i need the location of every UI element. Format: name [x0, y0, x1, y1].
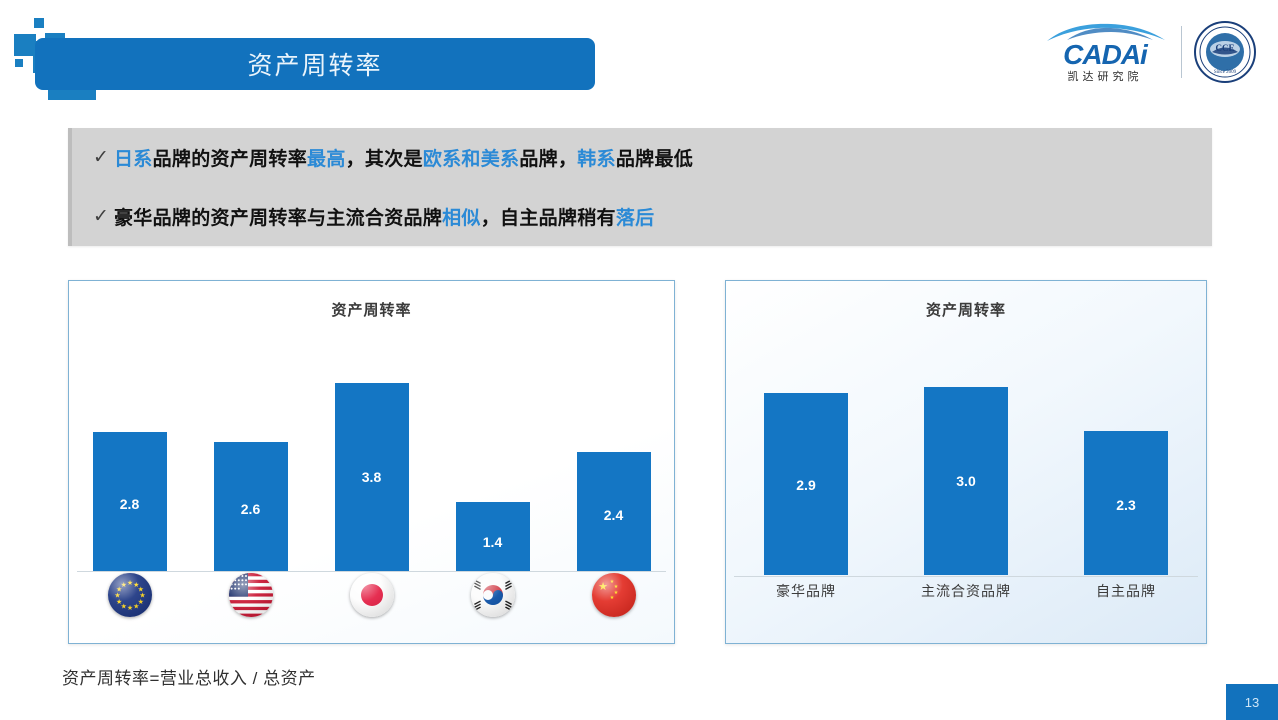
svg-text:CCE: CCE: [1215, 43, 1234, 53]
bullet-text-2: 豪华品牌的资产周转率与主流合资品牌相似，自主品牌稍有落后: [114, 203, 654, 230]
bullet-segment: 韩系: [577, 149, 616, 170]
bar-韩系[interactable]: 1.4: [456, 502, 530, 571]
bullet-segment: 落后: [616, 208, 655, 229]
bar-value-label: 2.6: [214, 501, 288, 517]
bar-自主品牌[interactable]: 2.3: [1084, 431, 1168, 575]
chart-left-bars: 2.82.63.81.42.4: [69, 343, 674, 571]
bullet-segment: ，其次是: [346, 149, 423, 170]
cn-flag-icon: ★ ★ ★ ★ ★: [592, 573, 636, 617]
bar-value-label: 2.3: [1084, 497, 1168, 513]
bar-slot: 3.0: [886, 343, 1046, 575]
svg-text:★: ★: [137, 585, 143, 593]
svg-text:★: ★: [613, 590, 618, 596]
cadai-chinese-name: 凯达研究院: [1068, 72, 1143, 83]
chart-right-title: 资产周转率: [726, 281, 1206, 320]
category-中系: ★ ★ ★ ★ ★: [553, 573, 674, 617]
slide-canvas: 资产周转率 CADAi 凯达研究院 CCE Since 2009 ✓ 日系品: [0, 0, 1278, 720]
bullet-segment: 相似: [442, 208, 481, 229]
bar-中系[interactable]: 2.4: [577, 452, 651, 571]
category-日系: [311, 573, 432, 617]
bullet-segment: 最高: [307, 149, 346, 170]
bullet-text-1: 日系品牌的资产周转率最高，其次是欧系和美系品牌，韩系品牌最低: [114, 144, 693, 171]
slide-title-bar: 资产周转率: [35, 38, 595, 90]
formula-footnote: 资产周转率=营业总收入 / 总资产: [62, 664, 316, 689]
chart-left-title: 资产周转率: [69, 281, 674, 320]
logo-divider: [1181, 26, 1182, 78]
svg-text:★: ★: [609, 579, 614, 585]
category-label: 主流合资品牌: [921, 581, 1011, 601]
bar-美系[interactable]: 2.6: [214, 442, 288, 571]
bar-slot: 2.4: [553, 343, 674, 571]
svg-text:★: ★: [609, 595, 614, 601]
bullet-segment: ，自主品牌稍有: [481, 208, 616, 229]
svg-text:★: ★: [598, 581, 608, 593]
svg-text:★: ★: [126, 604, 132, 612]
cadai-seal-icon: CCE Since 2009: [1194, 21, 1256, 83]
bullet-segment: 品牌最低: [616, 149, 693, 170]
bar-value-label: 3.8: [335, 469, 409, 485]
chart-left-axis: [77, 571, 666, 572]
bar-value-label: 2.4: [577, 507, 651, 523]
category-主流合资品牌: 主流合资品牌: [886, 581, 1046, 601]
bar-value-label: 2.8: [93, 496, 167, 512]
category-韩系: [432, 573, 553, 617]
decor-square-tiny: [15, 59, 23, 67]
key-findings-panel: ✓ 日系品牌的资产周转率最高，其次是欧系和美系品牌，韩系品牌最低 ✓ 豪华品牌的…: [68, 128, 1212, 246]
svg-text:Since 2009: Since 2009: [1214, 70, 1237, 75]
chart-by-segment: 资产周转率 2.93.02.3 豪华品牌主流合资品牌自主品牌: [725, 280, 1207, 644]
chart-right-categories: 豪华品牌主流合资品牌自主品牌: [726, 581, 1206, 601]
bullet-item-2: ✓ 豪华品牌的资产周转率与主流合资品牌相似，自主品牌稍有落后: [72, 187, 1212, 246]
bar-value-label: 2.9: [764, 477, 848, 493]
bar-欧系[interactable]: 2.8: [93, 432, 167, 571]
category-豪华品牌: 豪华品牌: [726, 581, 886, 601]
svg-text:★: ★: [114, 592, 120, 600]
page-title: 资产周转率: [247, 46, 382, 82]
bullet-segment: 品牌，: [519, 149, 577, 170]
logo-group: CADAi 凯达研究院 CCE Since 2009: [1041, 18, 1256, 86]
bullet-segment: 豪华品牌的资产周转率与主流合资品牌: [114, 208, 442, 229]
svg-text:★: ★: [116, 585, 122, 593]
bar-slot: 2.8: [69, 343, 190, 571]
svg-text:★: ★: [613, 584, 618, 590]
svg-text:★: ★: [139, 592, 145, 600]
svg-text:★: ★: [116, 598, 122, 606]
chart-by-origin: 资产周转率 2.82.63.81.42.4 ★★★★★★★★★★★★: [68, 280, 675, 644]
bar-slot: 3.8: [311, 343, 432, 571]
category-label: 自主品牌: [1096, 581, 1156, 601]
category-自主品牌: 自主品牌: [1046, 581, 1206, 601]
bar-slot: 2.3: [1046, 343, 1206, 575]
chart-right-bars: 2.93.02.3: [726, 343, 1206, 575]
cadai-wordmark: CADAi: [1063, 41, 1147, 69]
page-number: 13: [1226, 684, 1278, 720]
svg-text:★: ★: [133, 581, 139, 589]
chart-right-axis: [734, 576, 1198, 577]
bar-日系[interactable]: 3.8: [335, 383, 409, 571]
bullet-segment: 品牌的资产周转率: [153, 149, 307, 170]
eu-flag-icon: ★★★★★★★★★★★★: [108, 573, 152, 617]
chart-right-plot: 2.93.02.3: [726, 343, 1206, 575]
svg-text:★: ★: [126, 579, 132, 587]
svg-text:★: ★: [120, 581, 126, 589]
bar-value-label: 3.0: [924, 473, 1008, 489]
chart-left-categories: ★★★★★★★★★★★★ ★ ★ ★ ★ ★: [69, 573, 674, 617]
bullet-segment: 日系: [114, 149, 153, 170]
cadai-logo: CADAi 凯达研究院: [1041, 22, 1169, 83]
category-label: 豪华品牌: [776, 581, 836, 601]
bar-slot: 2.9: [726, 343, 886, 575]
kr-flag-icon: [471, 573, 515, 617]
bar-豪华品牌[interactable]: 2.9: [764, 393, 848, 575]
chart-left-plot: 2.82.63.81.42.4: [69, 343, 674, 571]
bar-主流合资品牌[interactable]: 3.0: [924, 387, 1008, 575]
bar-slot: 2.6: [190, 343, 311, 571]
svg-text:★: ★: [133, 602, 139, 610]
category-欧系: ★★★★★★★★★★★★: [69, 573, 190, 617]
bullet-segment: 欧系和美系: [423, 149, 520, 170]
bar-slot: 1.4: [432, 343, 553, 571]
decor-square-medium-2: [14, 34, 36, 56]
svg-text:★: ★: [120, 602, 126, 610]
bullet-item-1: ✓ 日系品牌的资产周转率最高，其次是欧系和美系品牌，韩系品牌最低: [72, 128, 1212, 187]
svg-text:★: ★: [137, 598, 143, 606]
jp-flag-icon: [350, 573, 394, 617]
bar-value-label: 1.4: [456, 534, 530, 550]
category-美系: [190, 573, 311, 617]
check-icon: ✓: [88, 205, 114, 228]
check-icon: ✓: [88, 146, 114, 169]
decor-square-small: [34, 18, 44, 28]
us-flag-icon: [229, 573, 273, 617]
